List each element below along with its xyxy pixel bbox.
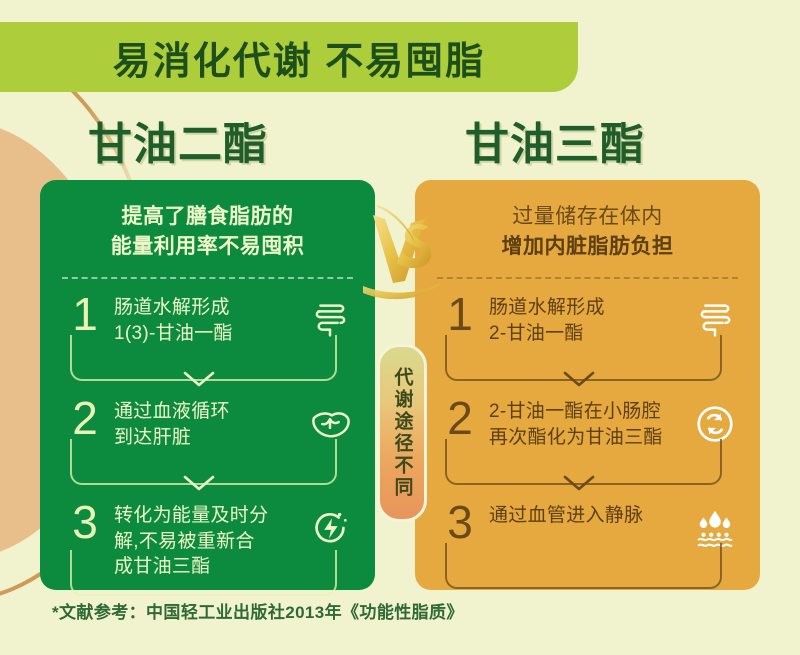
left-steps-list: 1 肠道水解形成1(3)-甘油一酯 (40, 279, 375, 606)
right-panel-headline: 过量储存在体内 增加内脏脂肪负担 (415, 180, 760, 263)
header-banner-text: 易消化代谢 不易囤脂 (63, 30, 486, 85)
step-number: 3 (437, 499, 483, 545)
header-banner: 易消化代谢 不易囤脂 (0, 22, 578, 92)
right-headline-line2: 增加内脏脂肪负担 (415, 232, 760, 262)
left-headline-line2: 能量利用率不易囤积 (40, 232, 375, 262)
right-column-title: 甘油三酯 (465, 108, 645, 172)
chevron-down-icon (562, 473, 596, 489)
metabolic-pathway-badge: 代谢途径不同 (377, 344, 427, 522)
chevron-down-icon (562, 369, 596, 385)
right-steps-list: 1 肠道水解形成2-甘油一酯 (415, 279, 760, 599)
step-connector (437, 365, 738, 395)
right-headline-line1: 过量储存在体内 (415, 202, 760, 232)
metabolic-pathway-label: 代谢途径不同 (393, 367, 412, 499)
triglyceride-panel: 过量储存在体内 增加内脏脂肪负担 1 肠道水解形成2-甘油一酯 (415, 180, 760, 590)
left-column-title: 甘油二酯 (88, 108, 268, 172)
chevron-down-icon (182, 473, 216, 489)
chevron-down-icon (182, 369, 216, 385)
step-number: 1 (437, 291, 483, 337)
step-number: 2 (62, 395, 108, 441)
step-connector (62, 365, 353, 395)
footnote-reference: *文献参考：中国轻工业出版社2013年《功能性脂质》 (52, 598, 464, 623)
energy-bolt-icon (303, 501, 357, 555)
step-end-bracket (437, 573, 738, 599)
infographic-canvas: 易消化代谢 不易囤脂 甘油二酯 甘油三酯 提高了膳食脂肪的 能量利用率不易囤积 … (0, 0, 800, 655)
step-number: 3 (62, 499, 108, 545)
left-panel-headline: 提高了膳食脂肪的 能量利用率不易囤积 (40, 180, 375, 263)
step-bracket (70, 550, 337, 596)
step-bracket (445, 543, 722, 589)
step-connector (62, 469, 353, 499)
left-headline-line1: 提高了膳食脂肪的 (40, 202, 375, 232)
diglyceride-panel: 提高了膳食脂肪的 能量利用率不易囤积 1 肠道水解形成1(3)-甘油一酯 (40, 180, 375, 590)
step-number: 1 (62, 291, 108, 337)
step-connector (437, 469, 738, 499)
step-text: 通过血管进入静脉 (483, 499, 688, 529)
step-number: 2 (437, 395, 483, 441)
